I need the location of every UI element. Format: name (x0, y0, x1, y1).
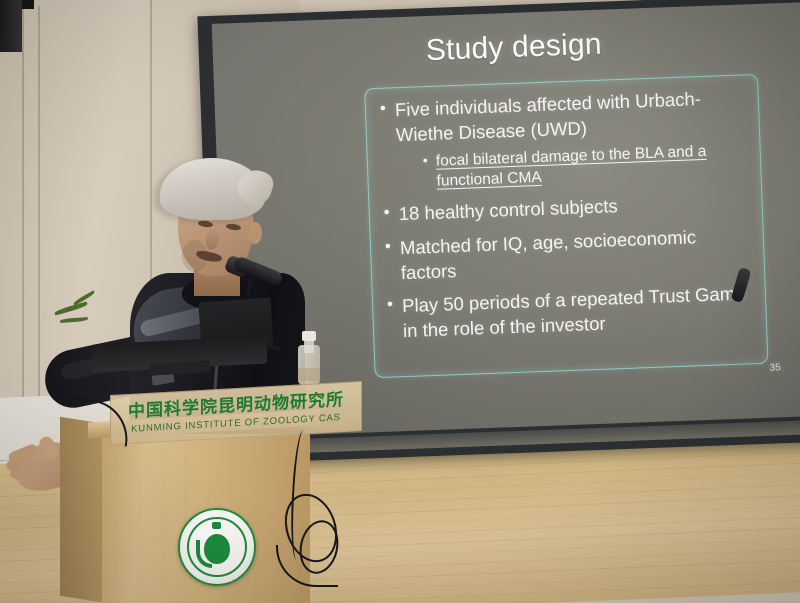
podium-side-panel (60, 417, 106, 603)
wood-grain-line (277, 434, 278, 603)
bullet-text: Matched for IQ, age, socioeconomic facto… (400, 226, 697, 282)
bullet-list: Five individuals affected with Urbach-Wi… (380, 85, 753, 344)
wood-grain-line (185, 434, 186, 603)
bullet-text: Five individuals affected with Urbach-Wi… (395, 88, 702, 145)
slide-title: Study design (212, 20, 800, 76)
wood-grain-line (116, 434, 117, 603)
leaf (60, 317, 88, 323)
institute-emblem-icon (178, 508, 256, 586)
sub-bullet-item: focal bilateral damage to the BLA and a … (423, 141, 747, 193)
bullet-text: 18 healthy control subjects (398, 196, 618, 225)
podium: 中国科学院昆明动物研究所 KUNMING INSTITUTE OF ZOOLOG… (60, 424, 310, 603)
bullet-text: Play 50 periods of a repeated Trust Game… (402, 283, 746, 341)
water-bottle (298, 331, 320, 385)
leaf (54, 301, 88, 315)
presenter-ear (248, 222, 262, 244)
lecture-hall-scene: Study design Five individuals affected w… (0, 0, 800, 603)
slide-content-box: Five individuals affected with Urbach-Wi… (364, 74, 768, 378)
bottle-cap (302, 331, 316, 341)
emblem-mark (212, 522, 221, 529)
wood-grain-line (254, 434, 255, 603)
wall-speaker (0, 0, 22, 52)
plant-leaves (54, 286, 114, 346)
presenter-finger (10, 469, 36, 480)
sub-bullet-list: focal bilateral damage to the BLA and a … (397, 141, 747, 194)
bullet-item: Five individuals affected with Urbach-Wi… (380, 85, 747, 194)
wood-grain-line (139, 434, 140, 603)
bullet-item: Matched for IQ, age, socioeconomic facto… (385, 223, 751, 285)
bottle-label (298, 368, 320, 381)
slide-number: 35 (769, 362, 781, 373)
bullet-item: 18 healthy control subjects (383, 190, 748, 228)
bullet-item: Play 50 periods of a repeated Trust Game… (387, 282, 753, 344)
bottle-neck (304, 339, 314, 353)
wood-grain-line (162, 434, 163, 603)
